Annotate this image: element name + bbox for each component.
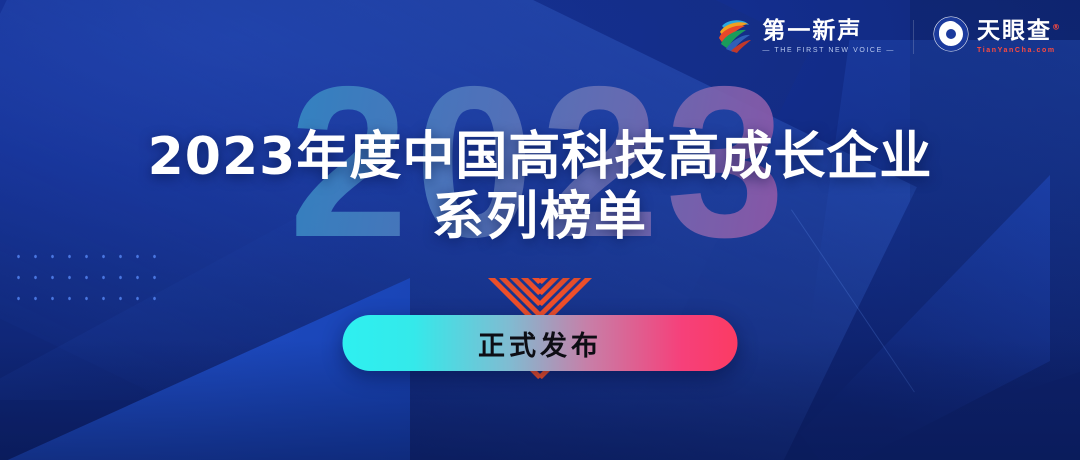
release-cta-label: 正式发布 <box>478 324 602 363</box>
headline-line-1: 2023年度中国高科技高成长企业 <box>0 128 1080 186</box>
logo-tianyancha-name-text: 天眼查 <box>977 18 1052 44</box>
headline-line-2: 系列榜单 <box>0 186 1080 248</box>
eye-shutter-logo-icon <box>932 15 970 58</box>
logo-bar: 第一新声 — THE FIRST NEW VOICE — 天眼查® TianYa… <box>715 14 1062 59</box>
logo-tianyancha-name: 天眼查® <box>977 20 1062 43</box>
logo-diyixinsheng[interactable]: 第一新声 — THE FIRST NEW VOICE — <box>715 14 895 59</box>
headline: 2023年度中国高科技高成长企业 系列榜单 <box>0 128 1080 248</box>
logo-tianyancha[interactable]: 天眼查® TianYanCha.com <box>932 15 1062 58</box>
trademark-symbol: ® <box>1052 22 1062 31</box>
logo-divider <box>913 20 914 54</box>
triangle-shape-bottom-left <box>0 278 410 460</box>
promo-banner: 2023 2023年度中国高科技高成长企业 系列榜单 正式发布 <box>0 0 1080 460</box>
logo-diyixinsheng-name: 第一新声 <box>762 20 895 43</box>
swirl-ribbon-logo-icon <box>715 14 755 59</box>
logo-tianyancha-tagline: TianYanCha.com <box>977 47 1062 54</box>
logo-diyixinsheng-tagline: — THE FIRST NEW VOICE — <box>762 47 895 54</box>
release-cta-button[interactable]: 正式发布 <box>343 315 738 371</box>
